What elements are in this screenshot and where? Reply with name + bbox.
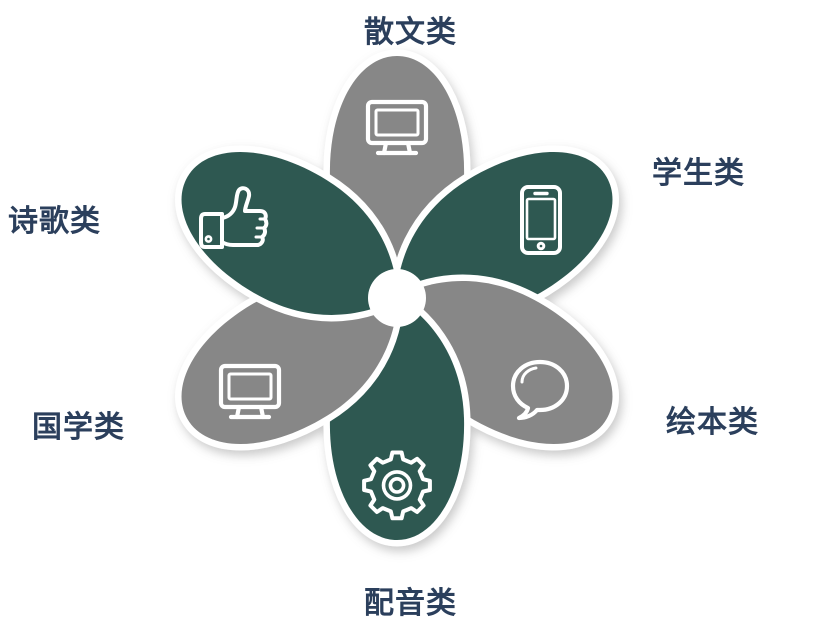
petal-label-bottom: 配音类 xyxy=(0,578,821,622)
center-hub xyxy=(368,269,426,327)
petal-label-upper-right: 学生类 xyxy=(652,148,745,192)
diagram-canvas: 散文类 学生类 绘本类 配音类 国学类 诗歌类 xyxy=(0,0,821,627)
flower-diagram xyxy=(0,0,821,627)
petal-label-upper-left: 诗歌类 xyxy=(8,196,101,240)
petal-label-lower-right: 绘本类 xyxy=(666,397,759,441)
petal-label-lower-left: 国学类 xyxy=(32,402,125,446)
petal-label-top: 散文类 xyxy=(0,7,821,51)
